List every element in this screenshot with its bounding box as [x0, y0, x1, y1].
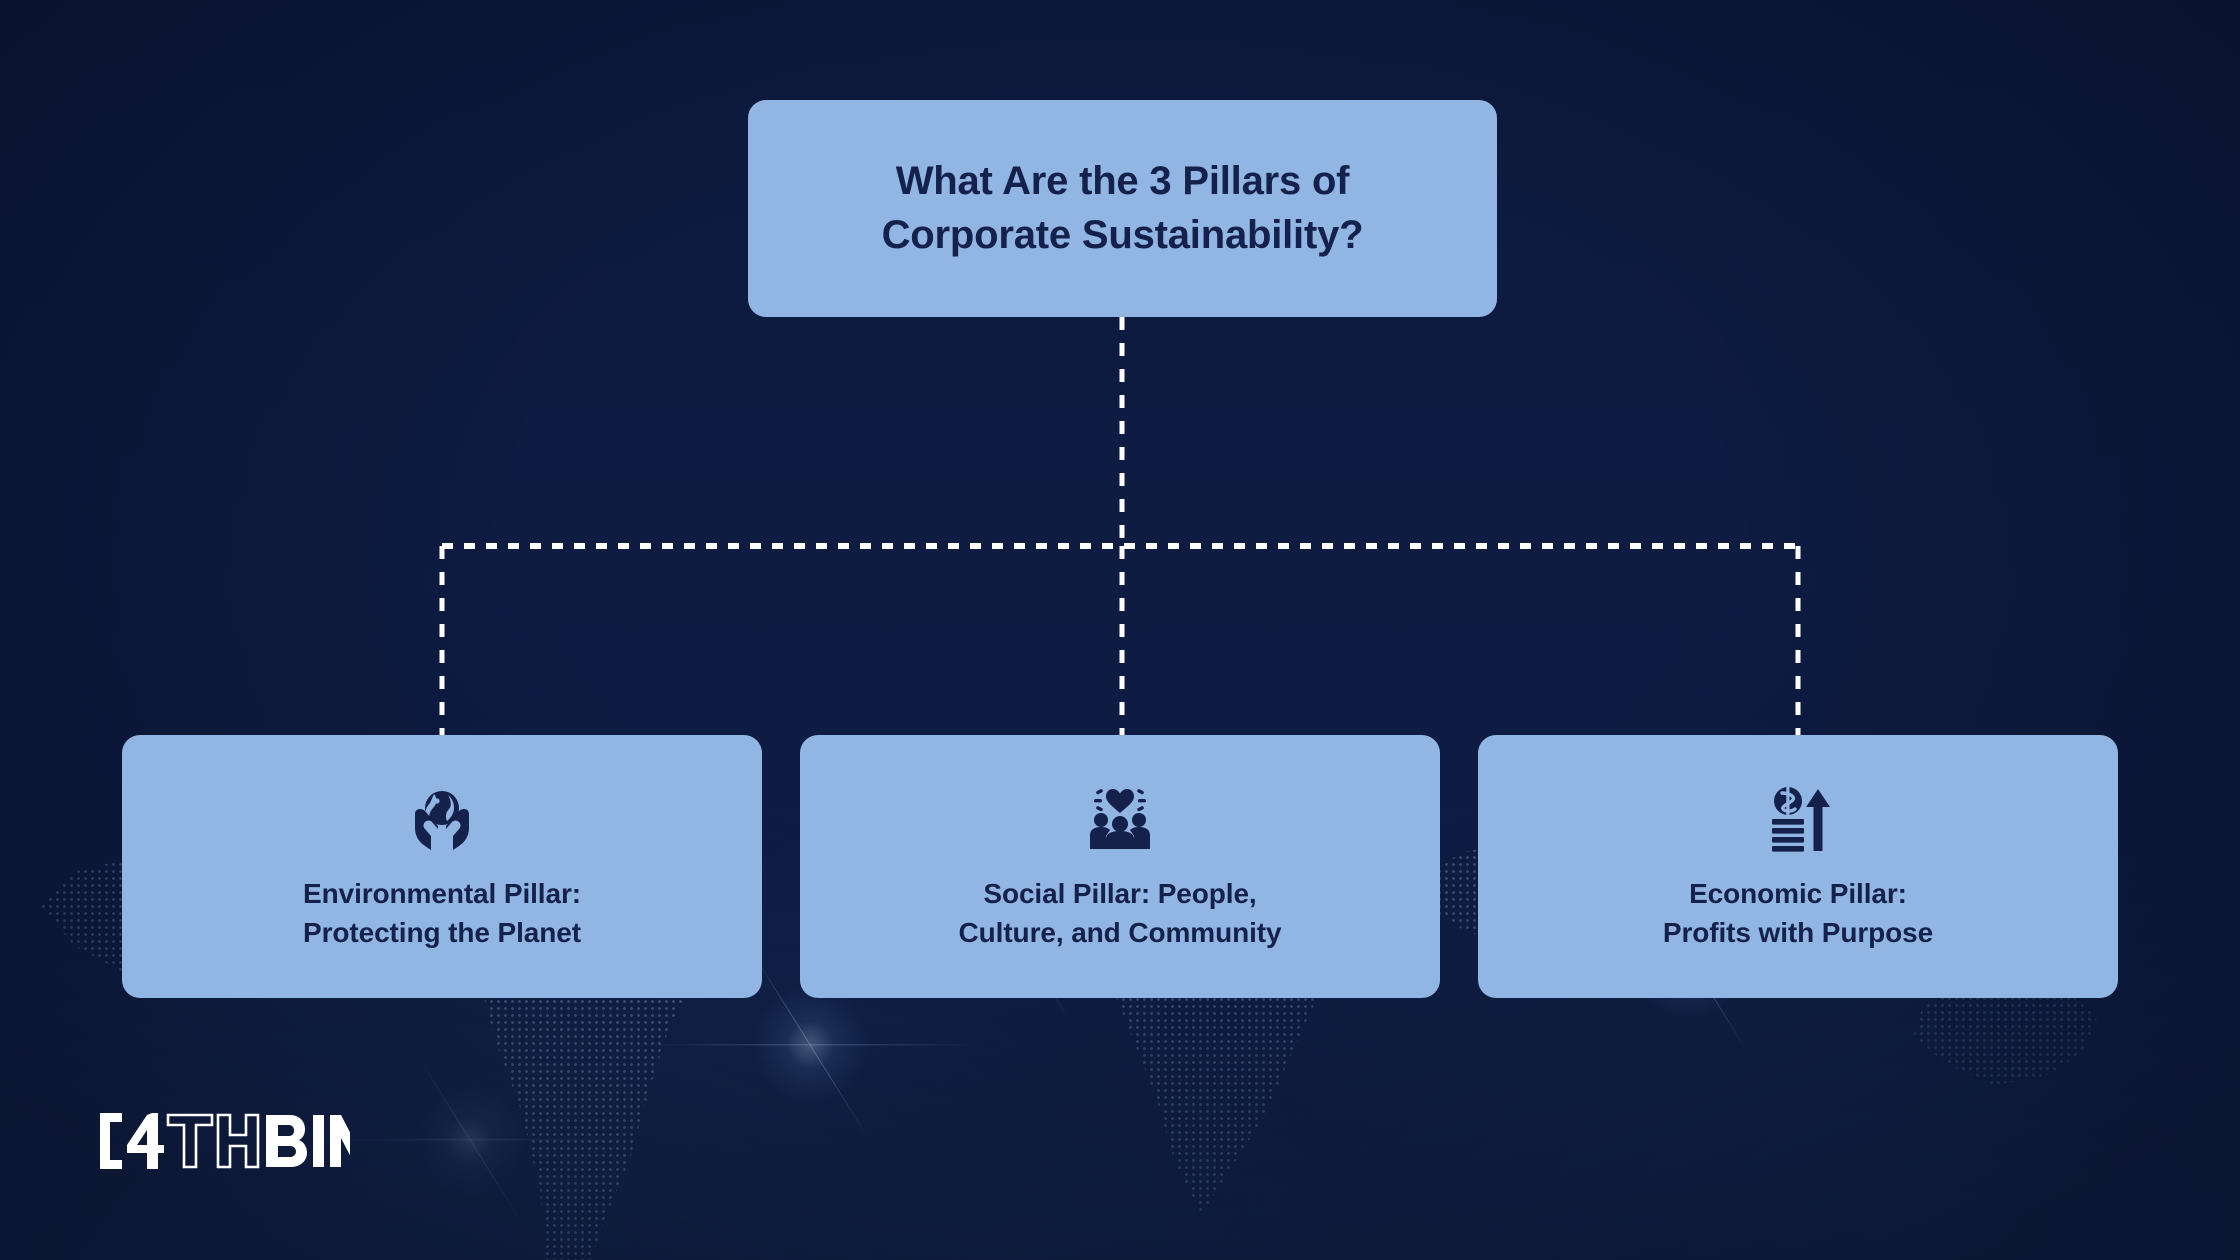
brand-logo[interactable]: [100, 1112, 350, 1170]
pillar-card-social[interactable]: Social Pillar: People, Culture, and Comm…: [800, 735, 1440, 998]
pillar-card-environmental[interactable]: Environmental Pillar: Protecting the Pla…: [122, 735, 762, 998]
hands-holding-globe-icon: [404, 781, 480, 857]
pillar-card-economic[interactable]: Economic Pillar: Profits with Purpose: [1478, 735, 2118, 998]
pillar-label: Environmental Pillar: Protecting the Pla…: [303, 875, 581, 952]
title-card: What Are the 3 Pillars of Corporate Sust…: [748, 100, 1497, 317]
pillar-label: Social Pillar: People, Culture, and Comm…: [959, 875, 1282, 952]
money-growth-arrow-icon: [1760, 781, 1836, 857]
page-title: What Are the 3 Pillars of Corporate Sust…: [882, 155, 1364, 261]
people-heart-community-icon: [1082, 781, 1158, 857]
pillar-label: Economic Pillar: Profits with Purpose: [1663, 875, 1933, 952]
infographic-canvas: What Are the 3 Pillars of Corporate Sust…: [0, 0, 2240, 1260]
